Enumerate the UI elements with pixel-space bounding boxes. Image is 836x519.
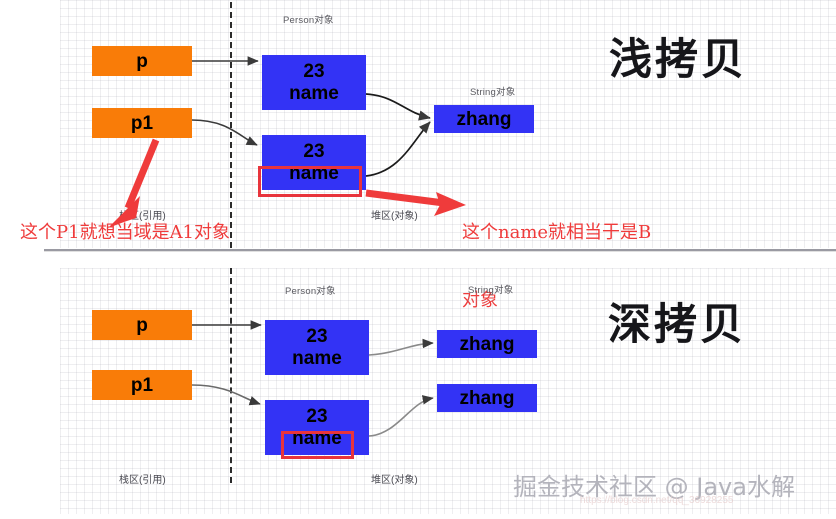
heap-string-object-1-shallow[interactable]: zhang: [434, 105, 534, 133]
annotation-p1-note: 这个P1就想当域是A1对象: [20, 222, 230, 245]
name-field-highlight-deep: [281, 431, 354, 459]
string-value: zhang: [460, 335, 515, 354]
stack-heap-divider-bottom: [230, 268, 232, 483]
person-age-value: 23: [265, 327, 369, 346]
string-value: zhang: [460, 389, 515, 408]
person-age-value: 23: [262, 142, 366, 161]
person-object-caption-shallow: Person对象: [283, 12, 334, 26]
annotation-name-note-line1: 这个name就相当于是B: [462, 222, 651, 245]
stack-ref-p1-shallow[interactable]: p1: [92, 108, 192, 138]
heap-person-object-1-deep[interactable]: 23 name: [265, 320, 369, 375]
heap-string-object-1-deep[interactable]: zhang: [437, 330, 537, 358]
stack-zone-label-deep: 栈区(引用): [119, 471, 166, 486]
name-field-highlight-shallow: [258, 166, 362, 197]
heap-zone-label-deep: 堆区(对象): [371, 471, 418, 486]
diagram-canvas: p p1 Person对象 23 name 23 name String对象 z…: [0, 0, 836, 519]
person-age-value: 23: [265, 407, 369, 426]
stack-ref-label: p1: [131, 114, 153, 133]
person-object-caption-deep: Person对象: [285, 283, 336, 297]
stack-ref-label: p: [136, 316, 148, 335]
stack-ref-p1-deep[interactable]: p1: [92, 370, 192, 400]
watermark-url: https://blog.csdn.net/qq_36928255: [580, 495, 733, 506]
stack-ref-p-shallow[interactable]: p: [92, 46, 192, 76]
stack-ref-label: p1: [131, 376, 153, 395]
string-object-caption-deep: String对象: [468, 282, 513, 296]
string-object-caption-shallow: String对象: [470, 84, 515, 98]
heap-string-object-2-deep[interactable]: zhang: [437, 384, 537, 412]
stack-heap-divider-top: [230, 2, 232, 248]
person-name-field: name: [262, 84, 366, 103]
stack-ref-p-deep[interactable]: p: [92, 310, 192, 340]
stack-zone-label-shallow: 栈区(引用): [119, 207, 166, 222]
string-value: zhang: [457, 110, 512, 129]
heap-person-object-1-shallow[interactable]: 23 name: [262, 55, 366, 110]
stack-ref-label: p: [136, 52, 148, 71]
shallow-copy-panel: p p1 Person对象 23 name 23 name String对象 z…: [0, 0, 836, 252]
shallow-copy-title: 浅拷贝: [609, 25, 747, 87]
deep-copy-title: 深拷贝: [608, 290, 746, 352]
person-name-field: name: [265, 349, 369, 368]
heap-zone-label-shallow: 堆区(对象): [371, 207, 418, 222]
person-age-value: 23: [262, 62, 366, 81]
panel-separator: [44, 249, 836, 251]
